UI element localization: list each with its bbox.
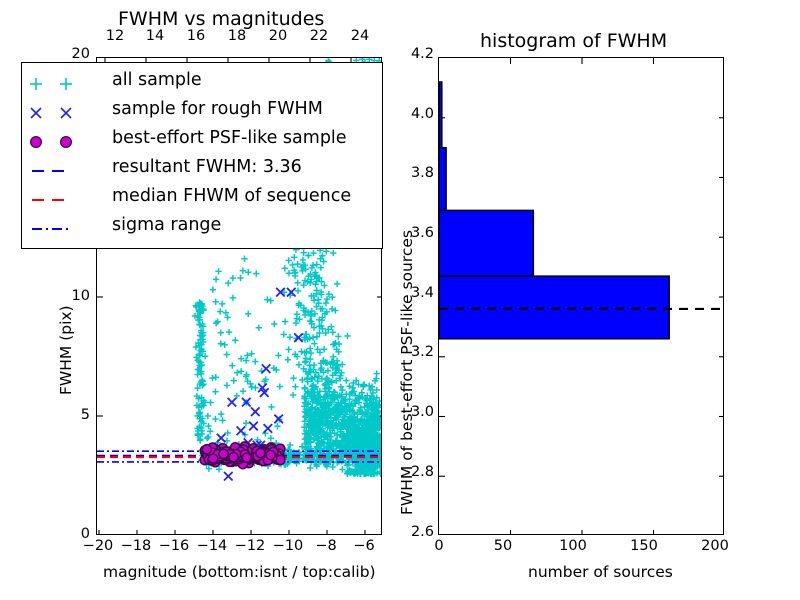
histogram-bars (439, 82, 669, 339)
right-x-tick-0: 0 (425, 538, 453, 554)
cross-icon (22, 98, 82, 127)
legend-label-rough-fwhm: sample for rough FWHM (112, 99, 323, 119)
left-y-tick-5: 5 (56, 407, 90, 423)
legend-entry-all-sample[interactable]: all sample (22, 69, 382, 98)
right-panel-xlabel: number of sources (528, 563, 673, 581)
left-bottom-tickmarks (99, 530, 365, 535)
legend-label-sigma-range: sigma range (112, 215, 221, 235)
series-best-effort-psf-like-sample (200, 442, 285, 469)
left-top-tick-18: 18 (222, 28, 252, 44)
legend-entry-resultant-fwhm[interactable]: resultant FWHM: 3.36 (22, 156, 382, 185)
legend-entry-sigma-range[interactable]: sigma range (22, 214, 382, 243)
right-y-tick-3.0: 3.0 (392, 404, 434, 420)
right-y-tick-3.4: 3.4 (392, 285, 434, 301)
left-top-tick-12: 12 (100, 28, 130, 44)
left-top-tick-14: 14 (140, 28, 170, 44)
left-panel-ylabel: FWHM (pix) (57, 305, 75, 395)
right-histogram-canvas (439, 58, 724, 535)
left-panel-title: FWHM vs magnitudes (118, 8, 324, 30)
legend-label-resultant-fwhm: resultant FWHM: 3.36 (112, 157, 302, 177)
right-y-tick-3.8: 3.8 (392, 165, 434, 181)
histogram-bar (439, 210, 533, 276)
histogram-bar (439, 148, 446, 211)
right-x-tick-50: 50 (489, 538, 517, 554)
right-histogram-plot[interactable] (438, 57, 724, 535)
legend[interactable]: all sample sample for rough FWHM best-ef… (21, 62, 383, 249)
histogram-bar (439, 276, 669, 339)
legend-label-psf-like: best-effort PSF-like sample (112, 128, 347, 148)
figure-canvas: FWHM vs magnitudes magnitude (bottom:isn… (0, 0, 800, 600)
left-bottom-tick--16: −16 (156, 538, 192, 554)
left-y-tick-20: 20 (56, 46, 90, 62)
left-y-tick-10: 10 (56, 288, 90, 304)
left-panel-xlabel: magnitude (bottom:isnt / top:calib) (103, 563, 376, 581)
left-top-tick-22: 22 (304, 28, 334, 44)
right-y-tick-2.8: 2.8 (392, 464, 434, 480)
left-top-tick-24: 24 (345, 28, 375, 44)
left-top-tick-20: 20 (263, 28, 293, 44)
right-y-tick-3.6: 3.6 (392, 225, 434, 241)
plus-icon (22, 69, 82, 98)
right-y-tick-3.2: 3.2 (392, 344, 434, 360)
histogram-bar (439, 82, 442, 148)
left-bottom-tick--8: −8 (311, 538, 341, 554)
left-y-tick-0: 0 (56, 526, 90, 542)
legend-label-median-fhwm: median FHWM of sequence (112, 186, 351, 206)
legend-entry-rough-fwhm[interactable]: sample for rough FWHM (22, 98, 382, 127)
dashed-line-icon-blue (22, 156, 82, 185)
left-top-tick-16: 16 (181, 28, 211, 44)
right-y-tick-4.0: 4.0 (392, 106, 434, 122)
right-x-tick-200: 200 (696, 538, 734, 554)
right-x-tick-100: 100 (554, 538, 592, 554)
right-y-tick-4.2: 4.2 (392, 46, 434, 62)
right-panel-title: histogram of FWHM (480, 30, 667, 52)
left-bottom-tick--12: −12 (232, 538, 268, 554)
dashdot-line-icon (22, 214, 82, 243)
left-bottom-tick--14: −14 (194, 538, 230, 554)
left-bottom-tick--6: −6 (349, 538, 379, 554)
filled-circle-icon (22, 127, 82, 156)
dashed-line-icon-red (22, 185, 82, 214)
legend-label-all-sample: all sample (112, 70, 202, 90)
legend-entry-psf-like[interactable]: best-effort PSF-like sample (22, 127, 382, 156)
left-bottom-tick--10: −10 (270, 538, 306, 554)
legend-entry-median-fhwm[interactable]: median FHWM of sequence (22, 185, 382, 214)
right-x-tick-150: 150 (625, 538, 663, 554)
left-bottom-tick--18: −18 (118, 538, 154, 554)
